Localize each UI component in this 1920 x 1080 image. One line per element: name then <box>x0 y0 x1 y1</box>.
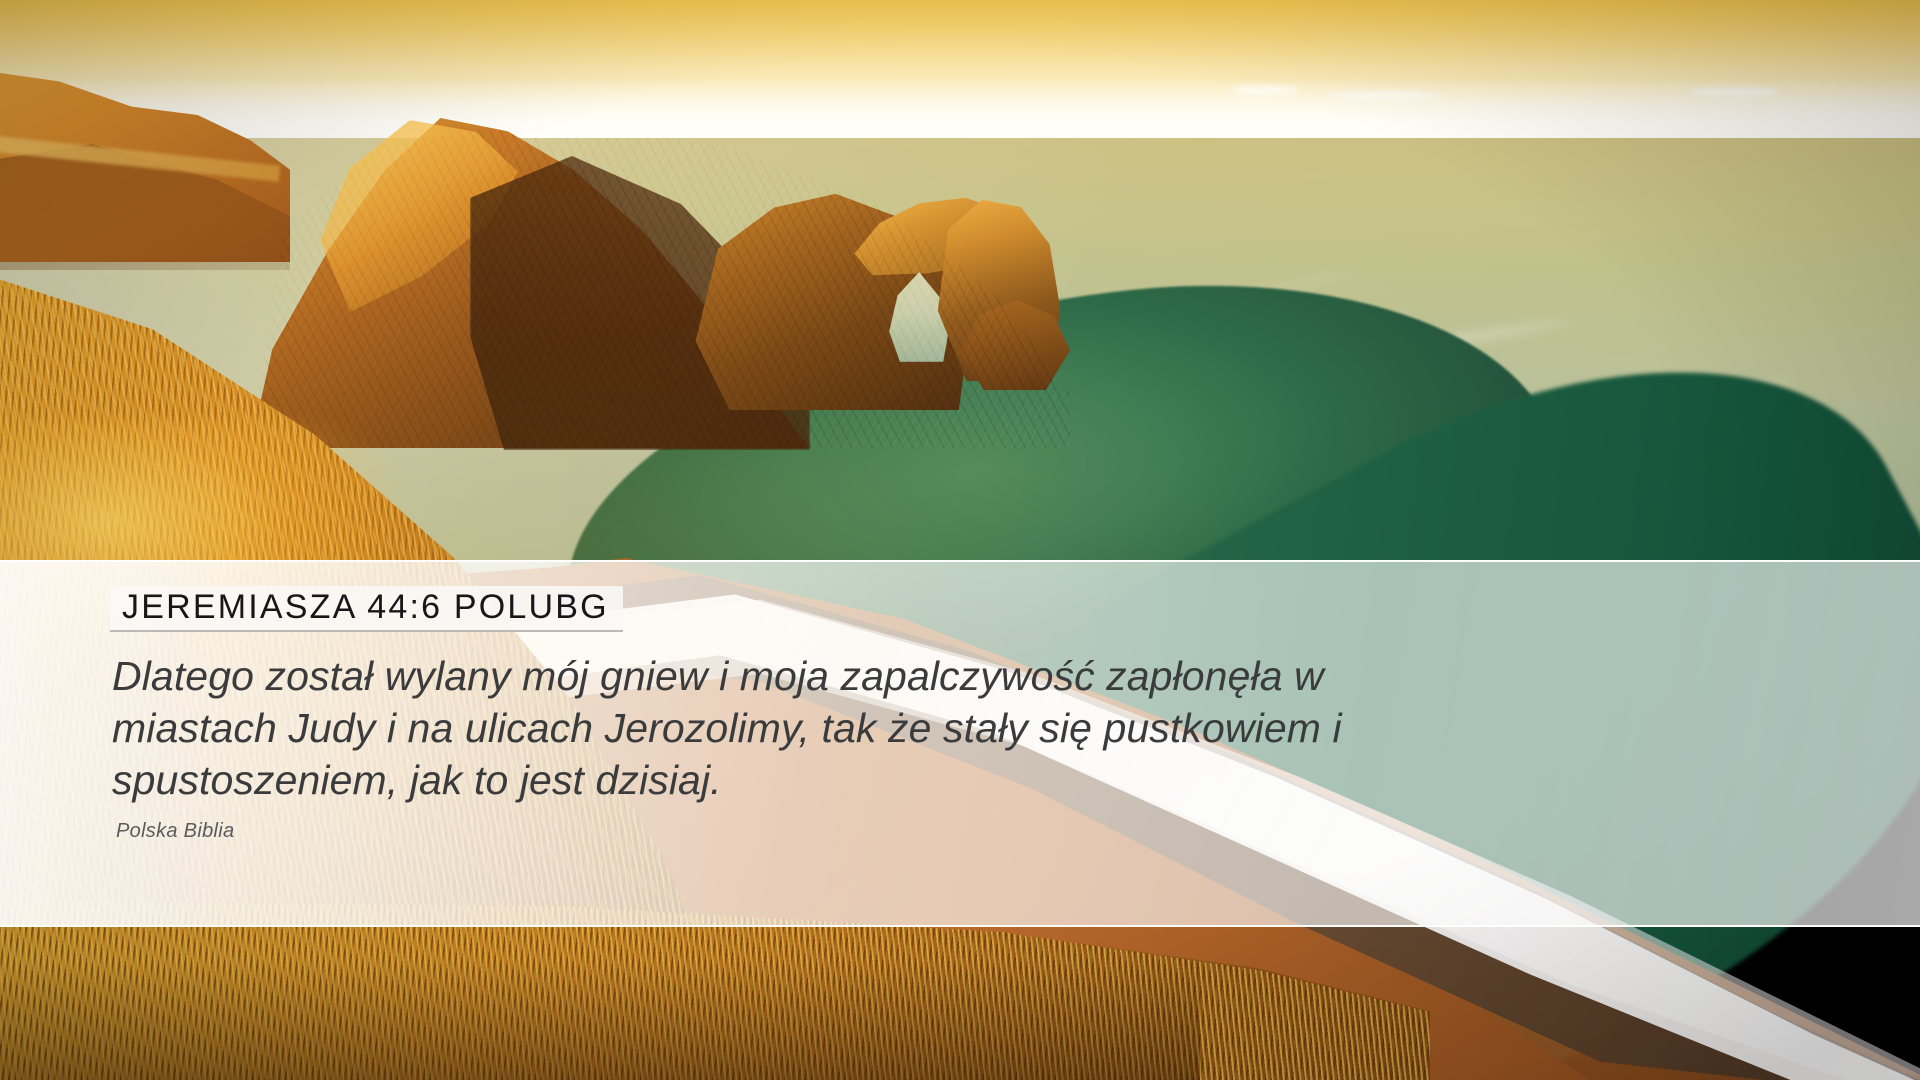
verse-image-canvas: JEREMIASZA 44:6 POLUBG Dlatego został wy… <box>0 0 1920 1080</box>
bible-attribution: Polska Biblia <box>116 820 234 843</box>
cloud <box>1230 86 1300 94</box>
verse-overlay-panel: JEREMIASZA 44:6 POLUBG Dlatego został wy… <box>0 560 1920 927</box>
verse-text: Dlatego został wylany mój gniew i moja z… <box>112 650 1442 806</box>
verse-line: Dlatego został wylany mój gniew i moja z… <box>112 650 1442 702</box>
verse-line: spustoszeniem, jak to jest dzisiaj. <box>112 754 1442 806</box>
verse-reference: JEREMIASZA 44:6 POLUBG <box>110 586 623 632</box>
verse-line: miastach Judy i na ulicach Jerozolimy, t… <box>112 702 1442 754</box>
verse-reference-container: JEREMIASZA 44:6 POLUBG <box>110 586 623 632</box>
grass-shadow <box>0 960 1200 1080</box>
cloud <box>1690 88 1780 96</box>
cloud <box>1330 92 1440 99</box>
